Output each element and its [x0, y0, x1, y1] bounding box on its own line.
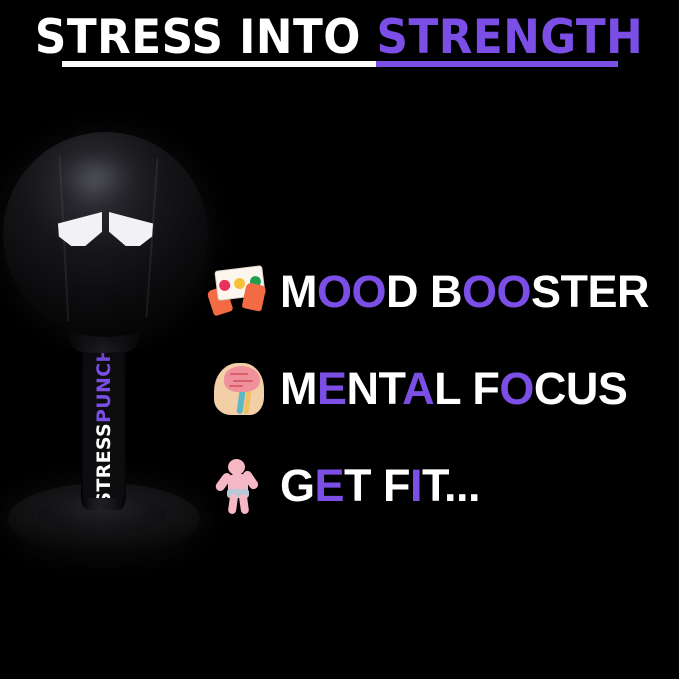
label-segment: I: [410, 460, 422, 511]
label-segment: CUS: [534, 363, 628, 414]
feature-label-get-fit: GET FIT...: [280, 463, 480, 508]
label-segment: T F: [344, 460, 410, 511]
label-segment: G: [280, 460, 315, 511]
page-title: STRESS INTO STRENGTH: [0, 14, 679, 61]
flexing-bodybuilder-icon: [208, 454, 272, 518]
brain-shape: [224, 366, 260, 392]
label-segment: E: [315, 460, 345, 511]
brain-fold: [230, 373, 248, 375]
feature-row-mood-booster: MOOD BOOSTER: [208, 243, 679, 340]
label-segment: STER: [531, 266, 649, 317]
punching-bag-product-image: STRESSPUNCH: [0, 125, 220, 585]
feature-list: MOOD BOOSTER MENTAL FOCUS: [208, 243, 679, 534]
label-segment: M: [280, 266, 317, 317]
feature-label-mood-booster: MOOD BOOSTER: [280, 269, 649, 314]
angry-eye-right-icon: [109, 212, 153, 246]
brain-fold: [229, 385, 243, 387]
label-segment: O: [499, 363, 534, 414]
label-segment: D B: [386, 266, 462, 317]
label-segment: L F: [434, 363, 499, 414]
neutral-face-shape: [234, 276, 246, 288]
angry-eye-left-icon: [58, 212, 102, 246]
label-segment: M: [280, 363, 317, 414]
leg-left-shape: [228, 493, 239, 514]
bag-ball: [3, 132, 208, 337]
label-segment: OO: [317, 266, 386, 317]
poster-canvas: STRESS INTO STRENGTH STRESSPUNCH: [0, 0, 679, 679]
title-part-white: STRESS INTO: [35, 10, 377, 65]
title-part-accent: STRENGTH: [377, 10, 644, 65]
label-segment: E: [317, 363, 347, 414]
label-segment: T...: [422, 460, 480, 511]
label-segment: A: [402, 363, 434, 414]
bodybuilder-head-shape: [228, 459, 245, 475]
feature-row-mental-focus: MENTAL FOCUS: [208, 340, 679, 437]
label-segment: OO: [462, 266, 531, 317]
feature-row-get-fit: GET FIT...: [208, 437, 679, 534]
feedback-faces-icon: [208, 260, 272, 324]
hand-right-shape: [242, 282, 267, 312]
brand-label: STRESSPUNCH: [83, 353, 124, 498]
head-brain-icon: [208, 357, 272, 421]
feature-label-mental-focus: MENTAL FOCUS: [280, 366, 627, 411]
brand-name-stress: STRESS: [93, 423, 115, 498]
title-underline: [62, 61, 618, 67]
sad-face-shape: [219, 278, 231, 290]
brand-name-punch: PUNCH: [93, 353, 115, 423]
underline-segment-white: [62, 61, 376, 67]
brain-fold: [233, 380, 253, 382]
underline-segment-accent: [376, 61, 618, 67]
bag-highlight: [58, 150, 136, 202]
label-segment: NT: [347, 363, 403, 414]
